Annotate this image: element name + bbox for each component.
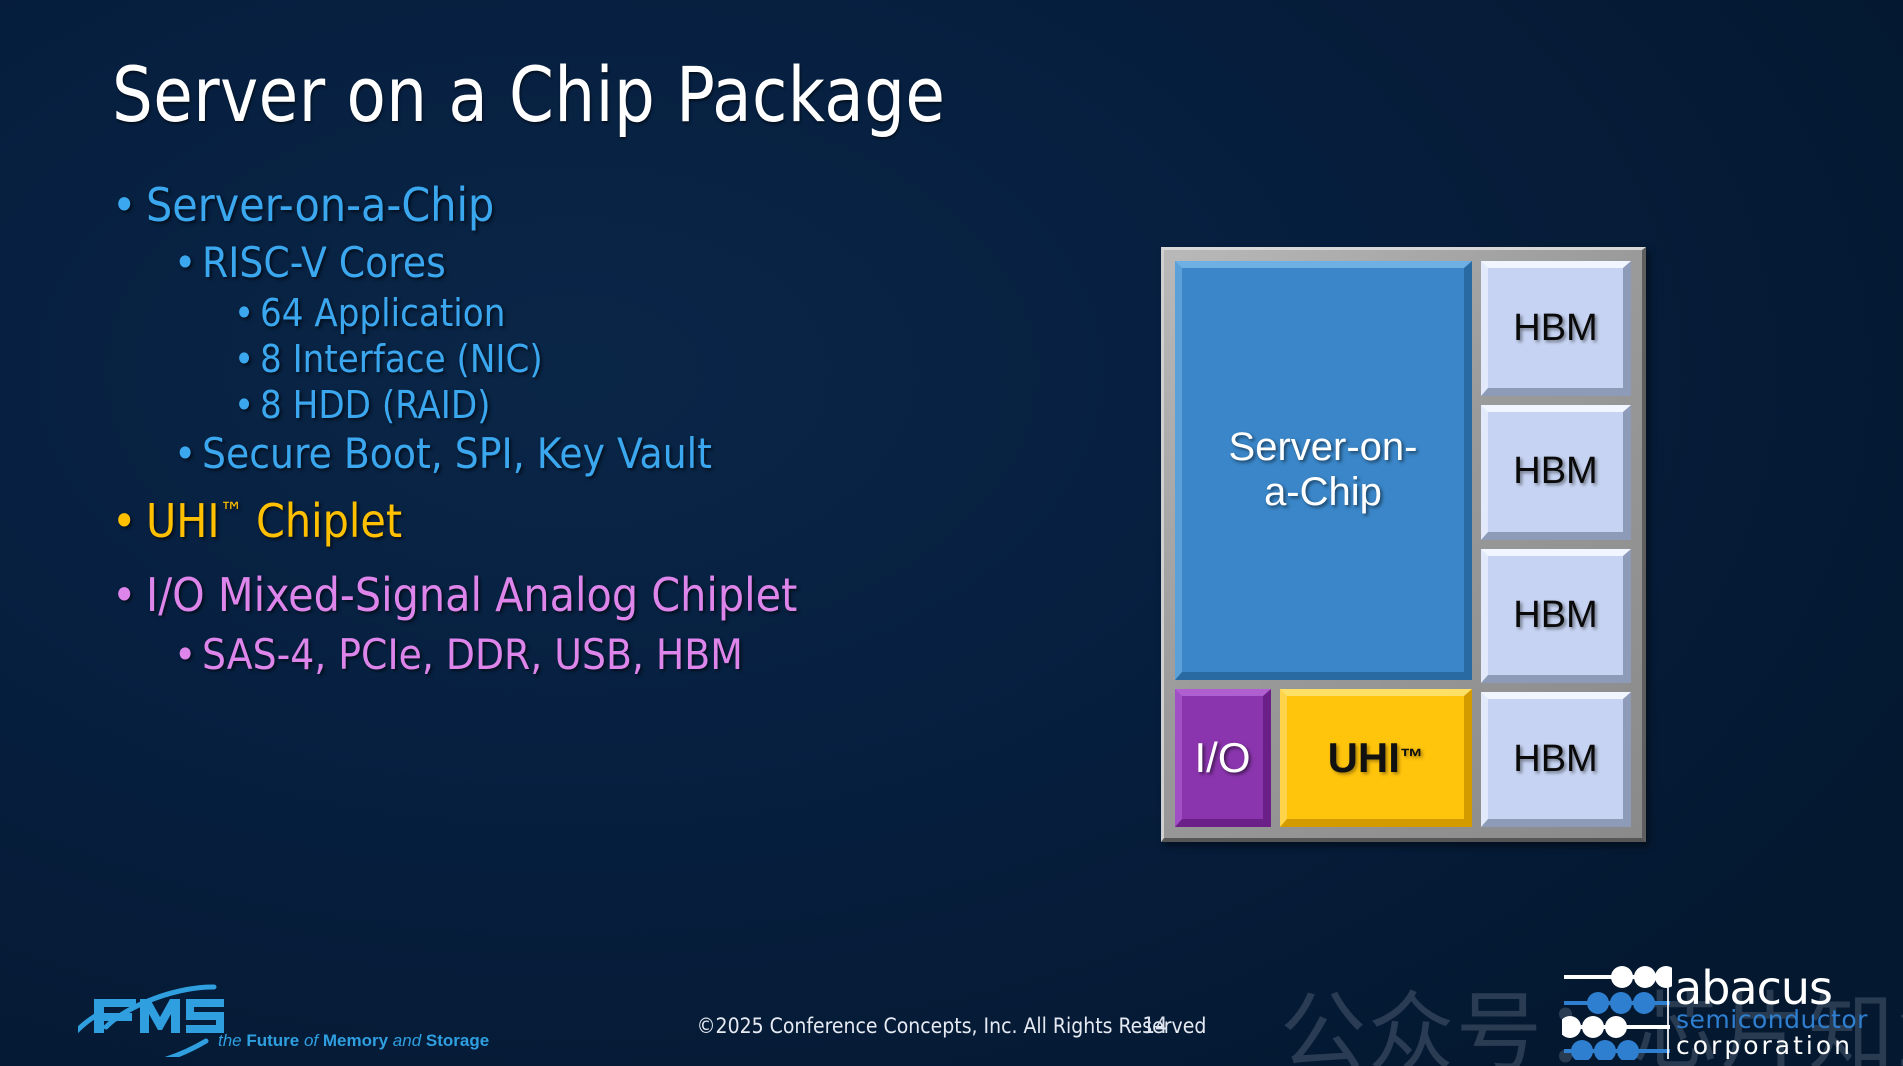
bullet-list: • Server-on-a-Chip • RISC-V Cores • 64 A… (112, 178, 982, 683)
uhi-chiplet-block: UHI™ (1280, 689, 1472, 827)
hbm-block: HBM (1481, 405, 1631, 540)
hbm-block: HBM (1481, 692, 1631, 827)
hbm-block: HBM (1481, 261, 1631, 396)
list-item: • 8 HDD (RAID) (112, 383, 982, 427)
list-item-label: 8 Interface (NIC) (260, 337, 543, 381)
abacus-logo: abacus semiconductor corporation (1562, 965, 1902, 1060)
page-number: 14 (1128, 1014, 1182, 1039)
bullet-dot-icon: • (174, 238, 202, 287)
list-item-label: RISC-V Cores (202, 238, 446, 287)
abacus-semiconductor-label: semiconductor (1676, 1005, 1868, 1034)
page-title: Server on a Chip Package (112, 50, 945, 139)
server-on-a-chip-block: Server-on- a-Chip (1175, 261, 1472, 680)
list-item: • RISC-V Cores (112, 238, 982, 287)
list-item-label: Server-on-a-Chip (146, 178, 494, 232)
fms-logo: the Future of Memory and Storage (78, 965, 408, 1057)
chip-package-diagram: Server-on- a-Chip I/O UHI™ HBM HBM HBM H… (1161, 247, 1646, 842)
list-item: • 64 Application (112, 291, 982, 335)
list-item-label: 8 HDD (RAID) (260, 383, 491, 427)
io-chiplet-block: I/O (1175, 689, 1271, 827)
slide-canvas: Server on a Chip Package • Server-on-a-C… (0, 0, 1903, 1066)
bullet-dot-icon: • (112, 178, 146, 232)
list-item-label: SAS-4, PCIe, DDR, USB, HBM (202, 630, 743, 679)
list-item: • Server-on-a-Chip (112, 178, 982, 232)
bullet-dot-icon: • (234, 337, 260, 381)
package-bottom-row: I/O UHI™ (1175, 689, 1472, 827)
list-item: • I/O Mixed-Signal Analog Chiplet (112, 568, 982, 622)
package-hbm-column: HBM HBM HBM HBM (1481, 261, 1631, 827)
list-item-label: Secure Boot, SPI, Key Vault (202, 429, 712, 478)
list-item-label: I/O Mixed-Signal Analog Chiplet (146, 568, 797, 622)
list-item: • SAS-4, PCIe, DDR, USB, HBM (112, 630, 982, 679)
abacus-corporation-label: corporation (1676, 1031, 1853, 1060)
package-left-column: Server-on- a-Chip I/O UHI™ (1175, 261, 1472, 827)
soc-label-line-2: a-Chip (1229, 470, 1418, 515)
bullet-dot-icon: • (234, 383, 260, 427)
list-item-label: 64 Application (260, 291, 505, 335)
list-item: • UHI™ Chiplet (112, 494, 982, 548)
list-item: • 8 Interface (NIC) (112, 337, 982, 381)
list-item-label: UHI™ Chiplet (146, 494, 402, 548)
bullet-dot-icon: • (112, 568, 146, 622)
hbm-block: HBM (1481, 549, 1631, 684)
abacus-beads-icon (1562, 965, 1672, 1060)
bullet-dot-icon: • (174, 630, 202, 679)
bullet-dot-icon: • (234, 291, 260, 335)
list-item: • Secure Boot, SPI, Key Vault (112, 429, 982, 478)
bullet-dot-icon: • (112, 494, 146, 548)
soc-label-line-1: Server-on- (1229, 425, 1418, 470)
bullet-dot-icon: • (174, 429, 202, 478)
